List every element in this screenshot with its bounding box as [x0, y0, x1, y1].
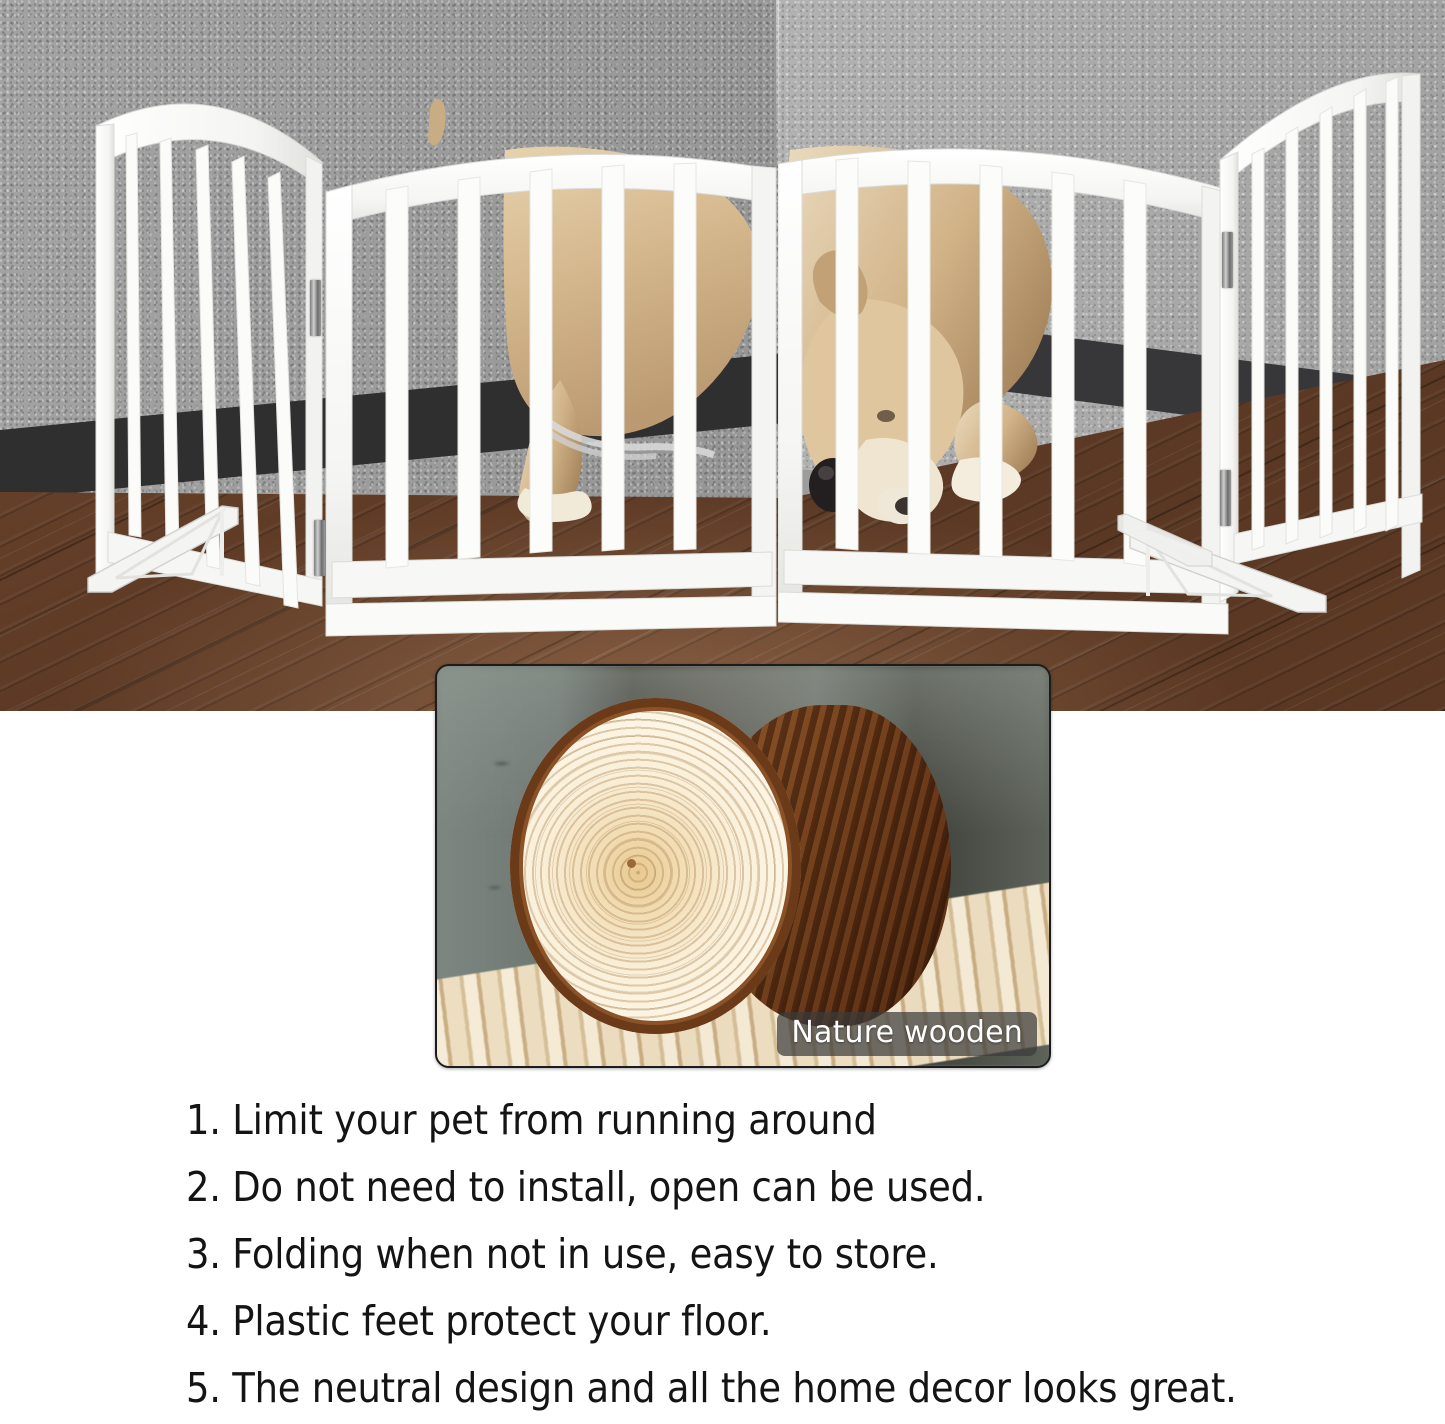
- inset-log-photo: Nature wooden: [435, 664, 1051, 1068]
- feature-item-5: 5. The neutral design and all the home d…: [186, 1355, 1426, 1422]
- cut-log: [510, 698, 951, 1034]
- log-core: [627, 859, 636, 868]
- support-foot: [1116, 508, 1236, 578]
- feature-item-2: 2. Do not need to install, open can be u…: [186, 1154, 1426, 1221]
- nature-wooden-label: Nature wooden: [777, 1012, 1037, 1056]
- log-growth-rings: [510, 698, 801, 1034]
- support-foot: [72, 502, 262, 594]
- hinge-icon: [310, 280, 321, 336]
- hero-product-photo: [0, 0, 1445, 711]
- feature-item-1: 1. Limit your pet from running around: [186, 1087, 1426, 1154]
- hinge-icon: [1222, 232, 1233, 288]
- feature-list: 1. Limit your pet from running around 2.…: [186, 1087, 1426, 1422]
- gate-panel-2: [324, 148, 778, 646]
- product-listing-image: Nature wooden 1. Limit your pet from run…: [0, 0, 1445, 1424]
- feature-item-4: 4. Plastic feet protect your floor.: [186, 1288, 1426, 1355]
- feature-item-3: 3. Folding when not in use, easy to stor…: [186, 1221, 1426, 1288]
